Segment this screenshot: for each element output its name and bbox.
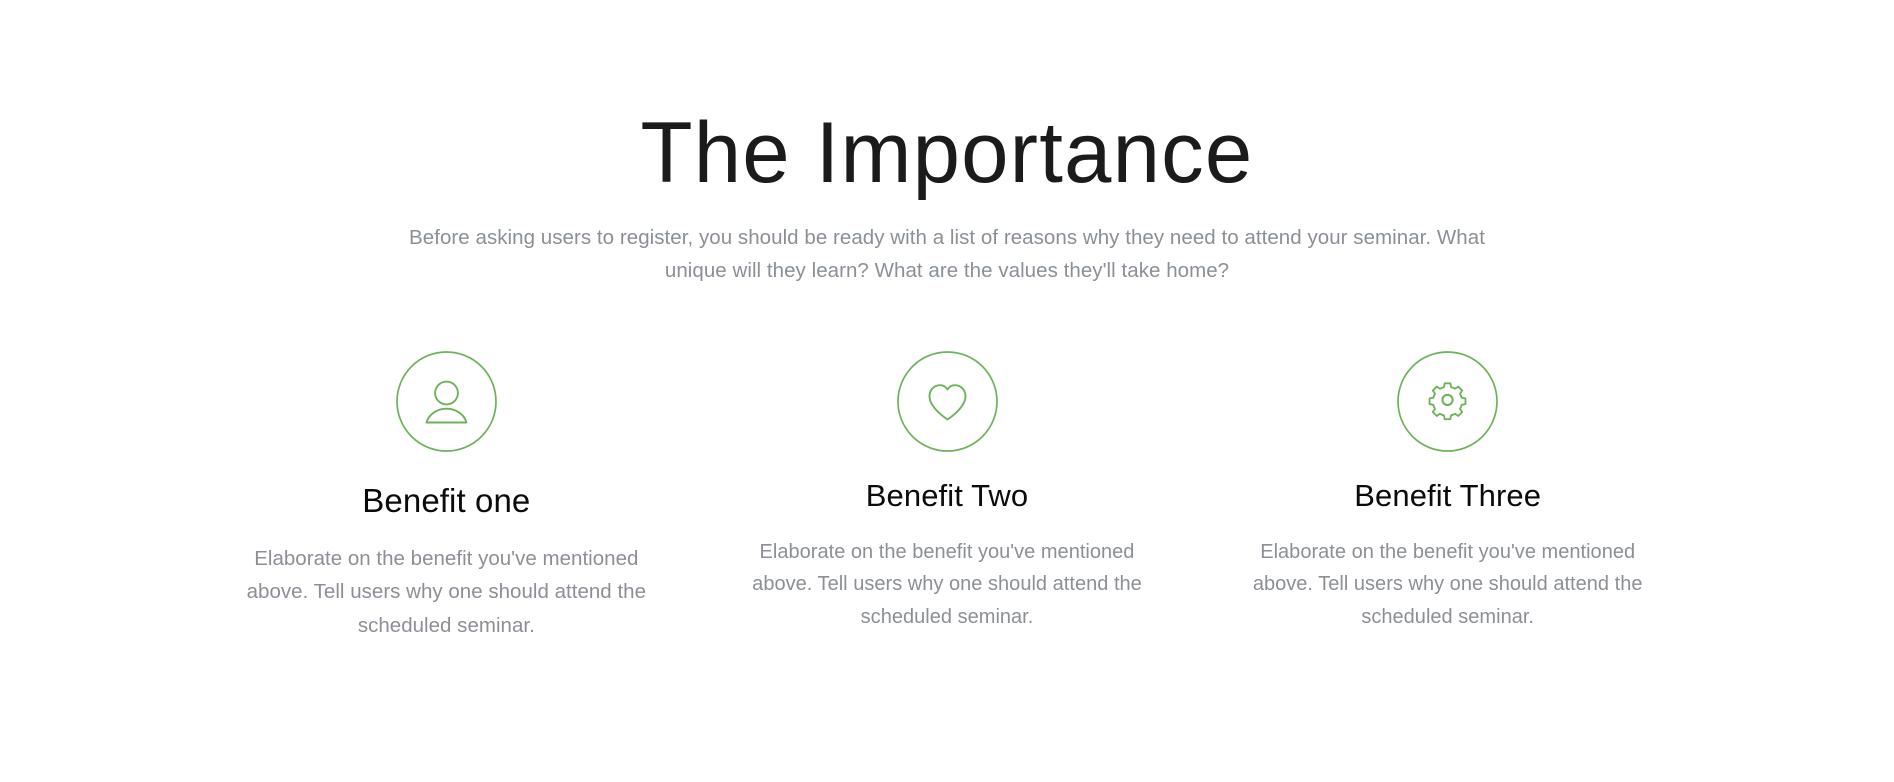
section-heading-block: The Importance Before asking users to re… [0, 108, 1894, 288]
benefit-title-2: Benefit Two [866, 477, 1029, 514]
benefit-card-2: Benefit Two Elaborate on the benefit you… [697, 350, 1198, 633]
heart-icon [896, 350, 999, 453]
benefits-row: Benefit one Elaborate on the benefit you… [0, 350, 1894, 642]
person-icon [395, 350, 498, 453]
benefit-text-3: Elaborate on the benefit you've mentione… [1244, 536, 1652, 633]
benefit-card-3: Benefit Three Elaborate on the benefit y… [1197, 350, 1698, 633]
benefit-title-3: Benefit Three [1354, 477, 1541, 514]
importance-section: The Importance Before asking users to re… [0, 0, 1894, 642]
benefit-title-1: Benefit one [362, 481, 530, 521]
benefit-icon-wrap-2 [896, 350, 999, 453]
gear-icon [1396, 350, 1499, 453]
benefit-card-1: Benefit one Elaborate on the benefit you… [196, 350, 697, 642]
benefit-icon-wrap-1 [395, 350, 498, 453]
section-subtitle: Before asking users to register, you sho… [398, 221, 1496, 287]
benefit-text-2: Elaborate on the benefit you've mentione… [741, 536, 1153, 633]
page-root: The Importance Before asking users to re… [0, 0, 1894, 782]
page-title: The Importance [9, 108, 1884, 199]
benefit-text-1: Elaborate on the benefit you've mentione… [236, 542, 656, 642]
benefit-icon-wrap-3 [1396, 350, 1499, 453]
